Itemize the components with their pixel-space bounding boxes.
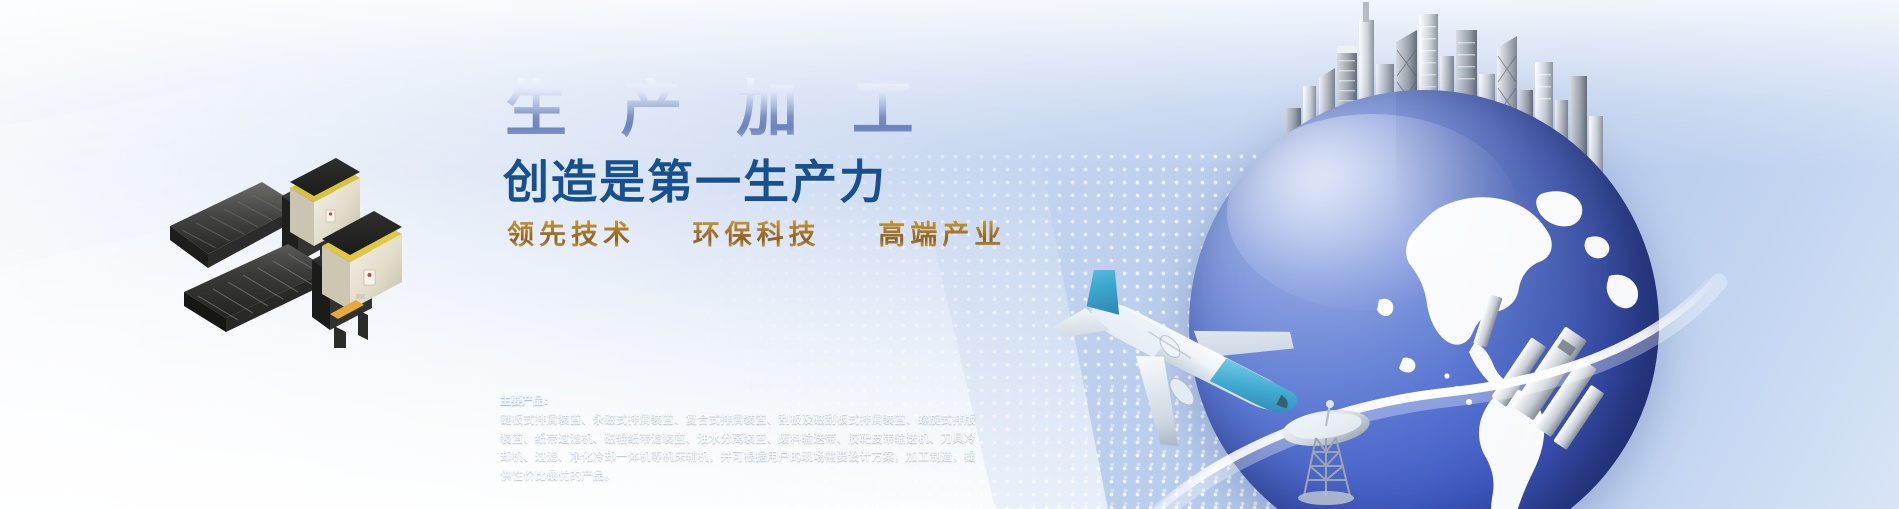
satellite-dish-icon [1234,400,1424,509]
tagline-spacer-1 [649,220,678,251]
tagline-phrase-1: 领先技术 [507,220,635,251]
tagline-spacer-2 [835,220,864,251]
product-line: 装置、纸带过滤机、磁辊纸带滤装置、油水分离装置、废料输送带、胶靶皮带输送机、刀具… [500,429,980,448]
product-description-block: 主要产品: 链板式排屑装置、永磁式排屑装置、复合式排屑装置、刮板及磁刮板式排屑装… [500,392,980,485]
banner-text-block: 生 产 加 工 创造是第一生产力 领先技术 环保科技 高端产业 [495,78,1195,253]
product-line: 却机、过滤、净化冷却一体机等机床辅机，并可根据用户的现场需要设计方案，加工制造，… [500,447,980,466]
product-list-body: 链板式排屑装置、永磁式排屑装置、复合式排屑装置、刮板及磁刮板式排屑装置、螺旋式排… [500,410,980,485]
product-line: 链板式排屑装置、永磁式排屑装置、复合式排屑装置、刮板及磁刮板式排屑装置、螺旋式排… [500,410,980,429]
globe-scene [1129,0,1769,509]
tagline-phrase-3: 高端产业 [878,220,1006,251]
promo-banner: 生 产 加 工 创造是第一生产力 领先技术 环保科技 高端产业 主要产品: 链板… [0,0,1899,509]
tagline-phrase-2: 环保科技 [693,220,821,251]
banner-subheadline: 创造是第一生产力 [503,158,1195,206]
product-line: 供性价比最优的产品。 [500,466,980,485]
banner-tagline: 领先技术 环保科技 高端产业 [507,220,1195,252]
product-list-heading: 主要产品: [500,392,980,409]
page-title: 生 产 加 工 [505,78,1195,140]
chip-conveyor-machine-icon [150,118,520,348]
